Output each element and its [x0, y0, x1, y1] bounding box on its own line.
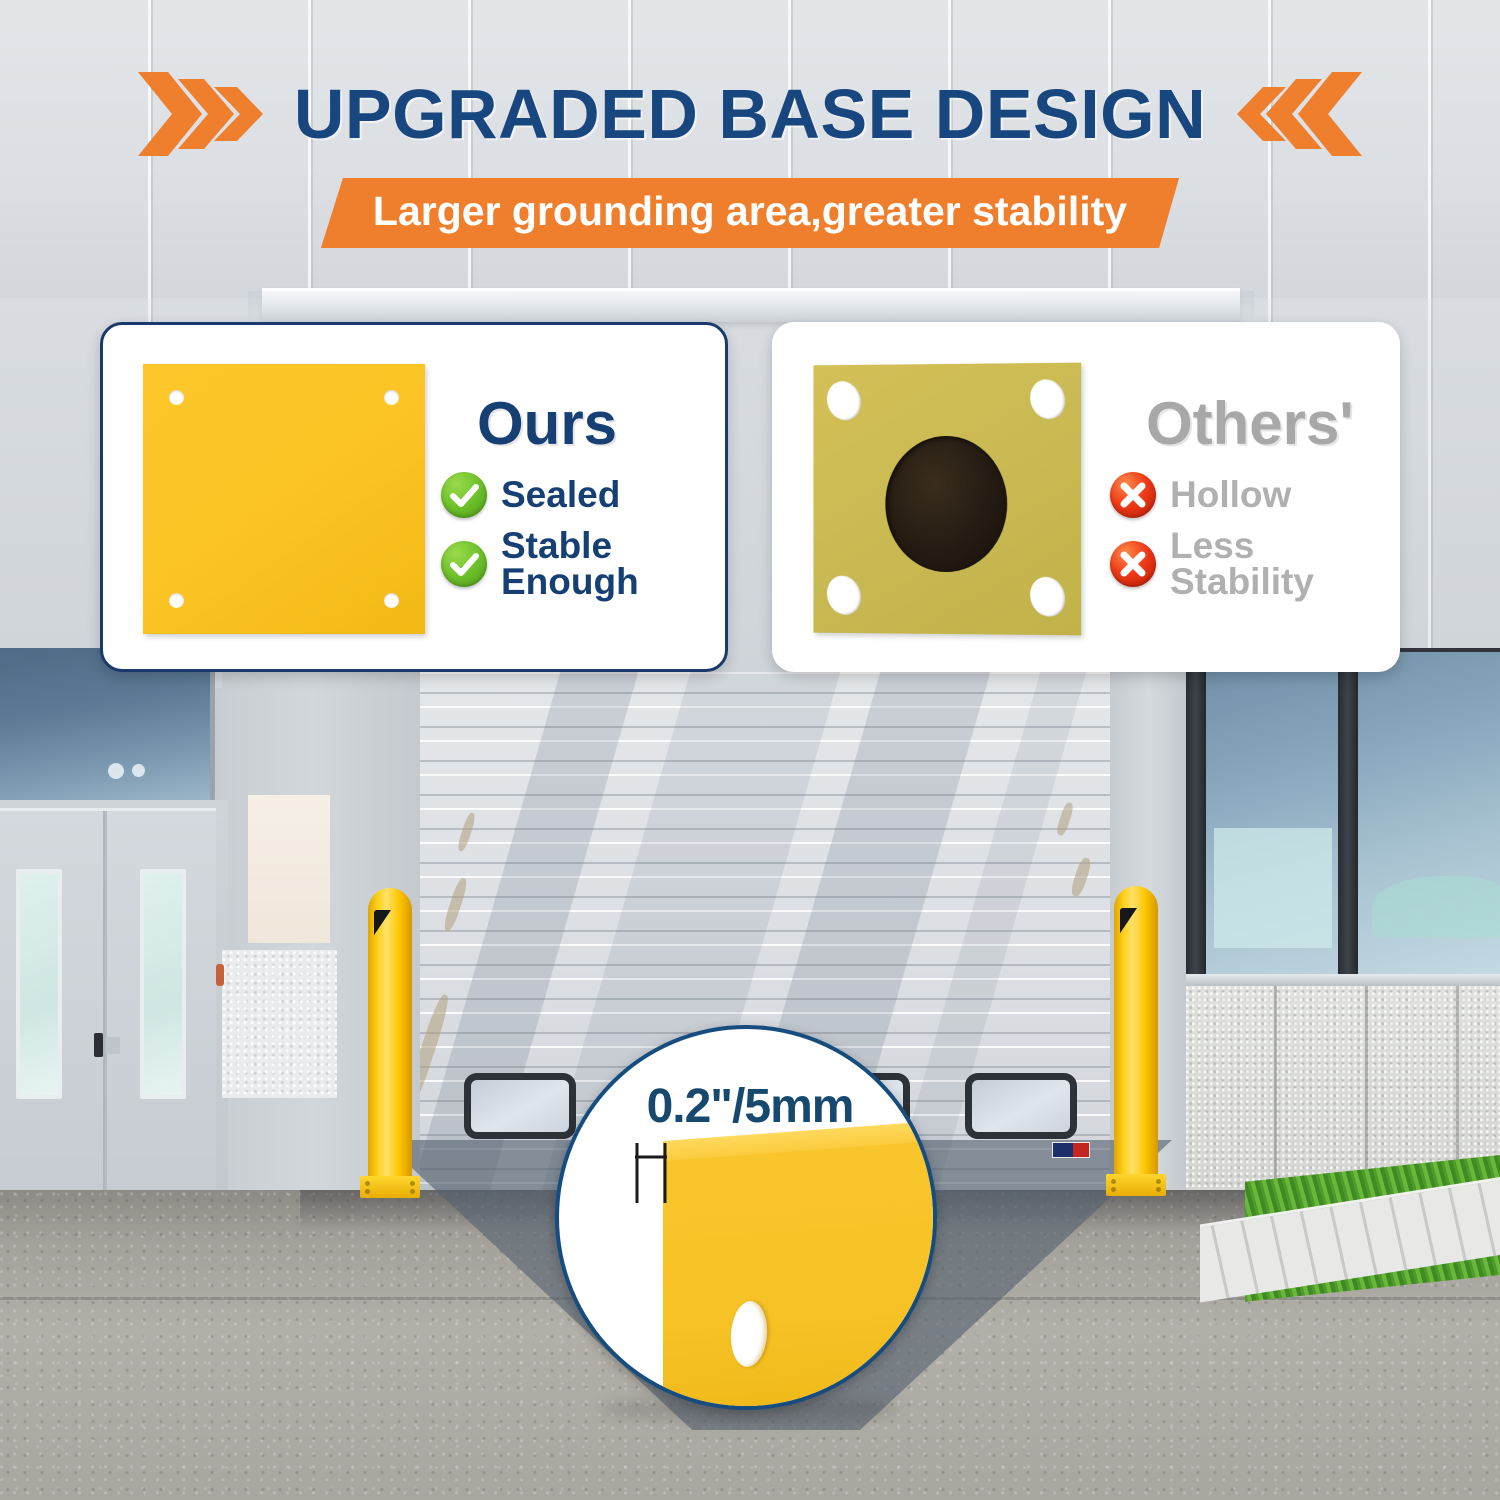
chevrons-right-icon: [138, 68, 268, 160]
textured-wall-patch: [222, 950, 337, 1098]
door-glass-pane: [16, 869, 62, 1099]
door-handle-icon: [94, 1033, 103, 1057]
bolt-hole: [169, 390, 184, 405]
bolt-hole: [1156, 1179, 1161, 1184]
bolt-hole: [410, 1181, 415, 1186]
bolt-hole: [1111, 1187, 1116, 1192]
bolt-hole: [1111, 1179, 1116, 1184]
header: UPGRADED BASE DESIGN Larger grounding ar…: [0, 0, 1500, 248]
door-stain: [442, 877, 469, 933]
ours-feature-label: Stable Enough: [501, 528, 639, 601]
glass-reflection: [1214, 828, 1332, 948]
x-circle-icon: [1110, 472, 1156, 518]
page-title: UPGRADED BASE DESIGN: [294, 74, 1206, 154]
ceiling-lamp-icon: [108, 763, 124, 779]
bollard-left: [360, 888, 420, 1200]
others-feature-hollow: Hollow: [1110, 472, 1386, 518]
others-plate-image: [808, 356, 1098, 638]
others-feature-label: Less Stability: [1170, 528, 1314, 601]
door-leaf-left: [0, 811, 105, 1198]
hazard-stripe-icon: [1120, 908, 1152, 956]
others-card-body: Others' Hollow: [1098, 394, 1400, 601]
wall-sticker: [1052, 1142, 1090, 1158]
ours-card-title: Ours: [437, 394, 711, 454]
title-row: UPGRADED BASE DESIGN: [0, 54, 1500, 174]
x-circle-icon: [1110, 541, 1156, 587]
comparison-card-others: Others' Hollow: [772, 322, 1400, 672]
bolt-hole: [822, 571, 866, 619]
entry-double-door: [0, 808, 216, 1198]
bolt-hole: [384, 593, 399, 608]
bolt-hole: [365, 1181, 370, 1186]
dimension-caliper-icon: [631, 1141, 691, 1211]
bolt-hole: [1025, 572, 1070, 621]
bollard-base-plate: [360, 1176, 420, 1198]
pale-wall-panel: [248, 795, 330, 943]
others-card-title: Others': [1106, 394, 1386, 454]
roller-door-window: [965, 1073, 1077, 1139]
others-feature-less-stability: Less Stability: [1110, 528, 1386, 601]
ours-card-body: Ours Sealed: [429, 394, 725, 601]
door-strike-plate: [106, 1037, 120, 1054]
ours-plate-image: [139, 356, 429, 638]
subtitle-text: Larger grounding area,greater stability: [373, 188, 1127, 234]
window-sill: [1186, 974, 1500, 986]
bollard-base-plate: [1106, 1174, 1166, 1196]
bolt-hole: [365, 1189, 370, 1194]
solid-base-plate: [143, 364, 425, 634]
bolt-hole: [410, 1189, 415, 1194]
ours-feature-stable: Stable Enough: [441, 528, 711, 601]
hazard-stripe-icon: [374, 910, 406, 958]
check-circle-icon: [441, 541, 487, 587]
door-glass-pane: [140, 869, 186, 1099]
right-curtain-wall-glass: [1186, 648, 1500, 978]
comparison-card-ours: Ours Sealed: [100, 322, 728, 672]
hollow-center-hole: [885, 436, 1007, 573]
door-stain: [1055, 801, 1075, 836]
ours-feature-sealed: Sealed: [441, 472, 711, 518]
bolt-hole: [1025, 375, 1070, 424]
door-leaf-right: [105, 811, 216, 1198]
ceiling-lamp-icon: [132, 764, 145, 777]
ours-feature-label: Sealed: [501, 477, 620, 513]
window-mullion: [1186, 652, 1206, 978]
door-stain: [1069, 856, 1093, 898]
subtitle-ribbon: Larger grounding area,greater stability: [321, 178, 1179, 248]
window-mullion: [1338, 652, 1358, 978]
door-stain: [456, 812, 477, 853]
door-canopy: [262, 288, 1240, 322]
bolt-hole: [1156, 1187, 1161, 1192]
hazard-stripe-bar: [374, 910, 406, 958]
thickness-magnifier-callout: 0.2"/5mm: [555, 1025, 937, 1410]
chevrons-left-icon: [1232, 68, 1362, 160]
bollard-right: [1106, 886, 1166, 1200]
plate-edge-closeup: [663, 1138, 937, 1410]
product-infographic: UPGRADED BASE DESIGN Larger grounding ar…: [0, 0, 1500, 1500]
others-feature-label: Hollow: [1170, 477, 1291, 513]
hazard-stripe-bar: [1120, 908, 1152, 956]
glass-reflection: [1372, 876, 1500, 938]
check-circle-icon: [441, 472, 487, 518]
bolt-hole: [169, 593, 184, 608]
bolt-hole: [822, 377, 866, 425]
hollow-base-plate: [814, 363, 1082, 636]
bolt-hole: [384, 390, 399, 405]
thickness-measurement-label: 0.2"/5mm: [559, 1079, 937, 1134]
subtitle-ribbon-row: Larger grounding area,greater stability: [0, 178, 1500, 248]
